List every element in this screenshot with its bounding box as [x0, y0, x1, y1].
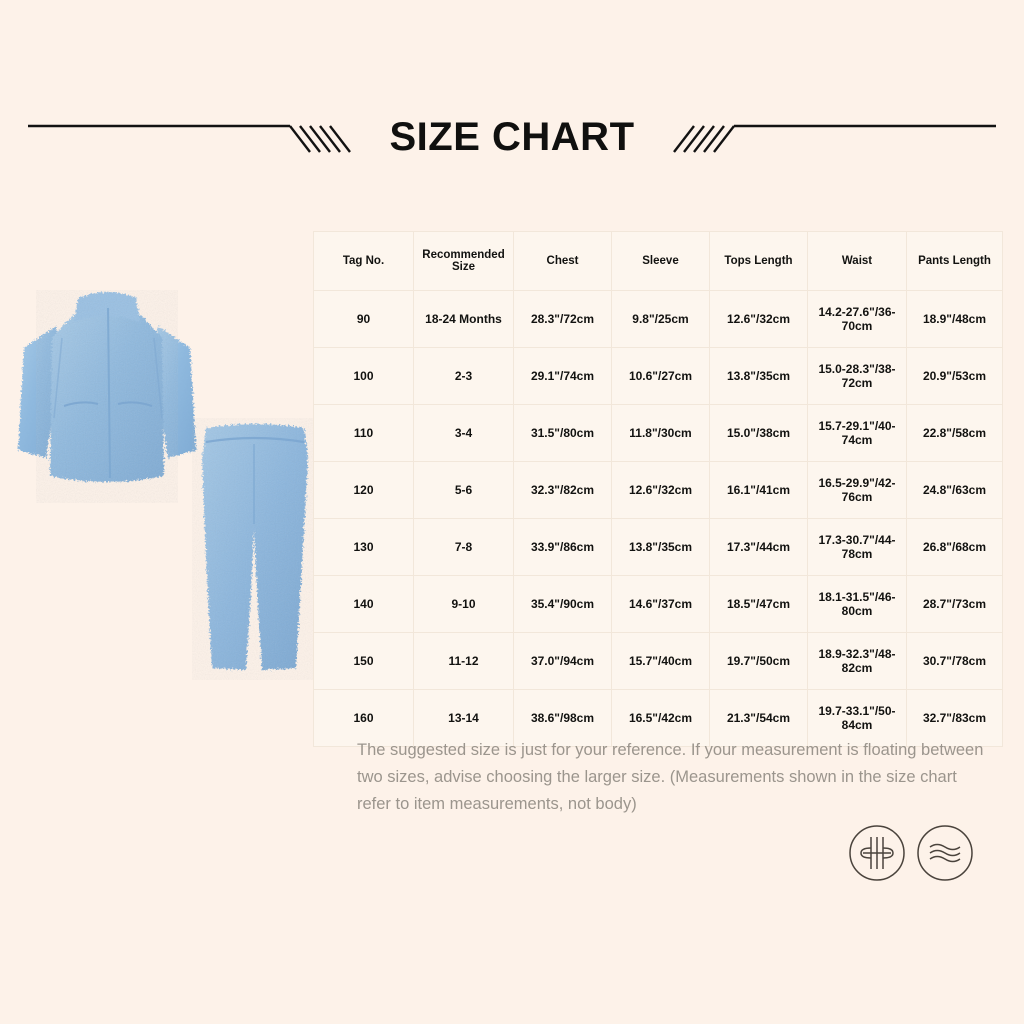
cell-waist: 18.9-32.3"/48-82cm	[808, 633, 907, 690]
cell-waist: 18.1-31.5"/46-80cm	[808, 576, 907, 633]
cell-sleeve: 9.8"/25cm	[612, 291, 710, 348]
title-decoration-right	[666, 108, 996, 168]
table-row: 140 9-10 35.4"/90cm 14.6"/37cm 18.5"/47c…	[314, 576, 1003, 633]
cell-chest: 31.5"/80cm	[514, 405, 612, 462]
column-header-chest: Chest	[514, 232, 612, 291]
cell-chest: 35.4"/90cm	[514, 576, 612, 633]
cell-waist: 16.5-29.9"/42-76cm	[808, 462, 907, 519]
table-row: 120 5-6 32.3"/82cm 12.6"/32cm 16.1"/41cm…	[314, 462, 1003, 519]
cell-waist: 14.2-27.6"/36-70cm	[808, 291, 907, 348]
table-row: 110 3-4 31.5"/80cm 11.8"/30cm 15.0"/38cm…	[314, 405, 1003, 462]
disclaimer-text: The suggested size is just for your refe…	[357, 737, 987, 818]
cell-recommended-size: 3-4	[414, 405, 514, 462]
feature-badges	[848, 824, 988, 886]
column-header-waist: Waist	[808, 232, 907, 291]
cell-sleeve: 12.6"/32cm	[612, 462, 710, 519]
breathable-icon	[848, 824, 906, 882]
cell-tag-no: 130	[314, 519, 414, 576]
cell-sleeve: 10.6"/27cm	[612, 348, 710, 405]
column-header-tops-length: Tops Length	[710, 232, 808, 291]
cell-sleeve: 15.7"/40cm	[612, 633, 710, 690]
size-chart-table: Tag No. Recommended Size Chest Sleeve To…	[313, 231, 1003, 747]
cell-tops-length: 13.8"/35cm	[710, 348, 808, 405]
table-row: 150 11-12 37.0"/94cm 15.7"/40cm 19.7"/50…	[314, 633, 1003, 690]
cell-tag-no: 150	[314, 633, 414, 690]
title-bar: SIZE CHART	[0, 108, 1024, 180]
cell-sleeve: 11.8"/30cm	[612, 405, 710, 462]
cell-chest: 28.3"/72cm	[514, 291, 612, 348]
table-body: 90 18-24 Months 28.3"/72cm 9.8"/25cm 12.…	[314, 291, 1003, 747]
cell-recommended-size: 2-3	[414, 348, 514, 405]
cell-pants-length: 30.7"/78cm	[907, 633, 1003, 690]
column-header-tag-no: Tag No.	[314, 232, 414, 291]
cell-waist: 17.3-30.7"/44-78cm	[808, 519, 907, 576]
soft-wave-icon	[916, 824, 974, 882]
cell-tops-length: 19.7"/50cm	[710, 633, 808, 690]
cell-tag-no: 140	[314, 576, 414, 633]
pants-image	[192, 418, 317, 680]
cell-waist: 15.0-28.3"/38-72cm	[808, 348, 907, 405]
cell-tops-length: 17.3"/44cm	[710, 519, 808, 576]
jacket-image	[12, 278, 202, 503]
cell-chest: 32.3"/82cm	[514, 462, 612, 519]
cell-pants-length: 26.8"/68cm	[907, 519, 1003, 576]
size-chart-table-container: Tag No. Recommended Size Chest Sleeve To…	[313, 231, 1002, 747]
cell-sleeve: 14.6"/37cm	[612, 576, 710, 633]
cell-tag-no: 120	[314, 462, 414, 519]
cell-tag-no: 110	[314, 405, 414, 462]
cell-tops-length: 12.6"/32cm	[710, 291, 808, 348]
table-row: 130 7-8 33.9"/86cm 13.8"/35cm 17.3"/44cm…	[314, 519, 1003, 576]
cell-recommended-size: 18-24 Months	[414, 291, 514, 348]
cell-pants-length: 18.9"/48cm	[907, 291, 1003, 348]
column-header-recommended-size: Recommended Size	[414, 232, 514, 291]
column-header-sleeve: Sleeve	[612, 232, 710, 291]
table-row: 100 2-3 29.1"/74cm 10.6"/27cm 13.8"/35cm…	[314, 348, 1003, 405]
table-row: 90 18-24 Months 28.3"/72cm 9.8"/25cm 12.…	[314, 291, 1003, 348]
cell-sleeve: 13.8"/35cm	[612, 519, 710, 576]
cell-recommended-size: 11-12	[414, 633, 514, 690]
cell-tops-length: 18.5"/47cm	[710, 576, 808, 633]
cell-chest: 33.9"/86cm	[514, 519, 612, 576]
column-header-pants-length: Pants Length	[907, 232, 1003, 291]
cell-recommended-size: 9-10	[414, 576, 514, 633]
cell-tops-length: 15.0"/38cm	[710, 405, 808, 462]
cell-pants-length: 20.9"/53cm	[907, 348, 1003, 405]
cell-pants-length: 24.8"/63cm	[907, 462, 1003, 519]
table-header-row: Tag No. Recommended Size Chest Sleeve To…	[314, 232, 1003, 291]
cell-waist: 15.7-29.1"/40-74cm	[808, 405, 907, 462]
cell-chest: 37.0"/94cm	[514, 633, 612, 690]
cell-tag-no: 100	[314, 348, 414, 405]
cell-recommended-size: 5-6	[414, 462, 514, 519]
cell-tops-length: 16.1"/41cm	[710, 462, 808, 519]
cell-recommended-size: 7-8	[414, 519, 514, 576]
cell-tag-no: 90	[314, 291, 414, 348]
cell-pants-length: 22.8"/58cm	[907, 405, 1003, 462]
cell-pants-length: 28.7"/73cm	[907, 576, 1003, 633]
cell-chest: 29.1"/74cm	[514, 348, 612, 405]
